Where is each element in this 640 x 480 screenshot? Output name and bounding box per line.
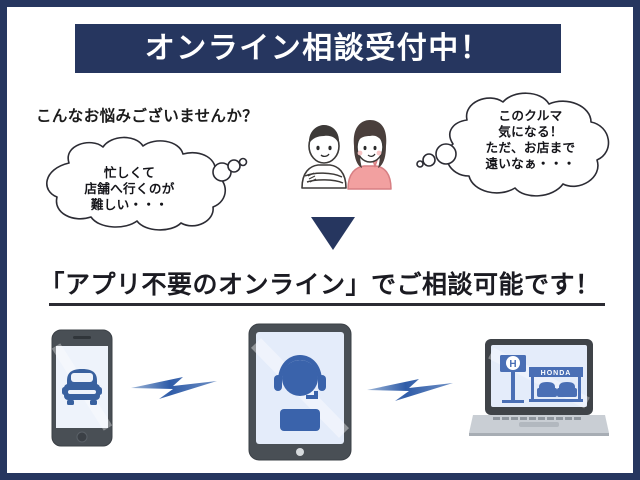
couple-illustration (290, 110, 398, 194)
lightning-bolt-icon (365, 371, 455, 407)
banner-title: オンライン相談受付中！ (145, 34, 492, 64)
honda-logo-text: H (509, 359, 516, 370)
thought-cloud-right: このクルマ気になる！ただ、お店まで遠いなぁ・・・ (419, 92, 624, 210)
lead-question: こんなお悩みございませんか？ (36, 104, 258, 126)
lightning-bolt-icon (129, 369, 219, 405)
headline-underline (49, 303, 605, 306)
tablet-headset-agent-icon (248, 323, 352, 461)
smartphone-car-icon (51, 329, 113, 447)
title-banner: オンライン相談受付中！ (75, 24, 561, 73)
headline: 「アプリ不要のオンライン」でご相談可能です！ (7, 265, 633, 301)
promo-poster: オンライン相談受付中！ こんなお悩みございませんか？ 忙しくて店舗へ行くのが難し… (0, 0, 640, 480)
thought-cloud-right-text: このクルマ気になる！ただ、お店まで遠いなぁ・・・ (451, 108, 610, 172)
thought-cloud-left-text: 忙しくて店舗へ行くのが難しい・・・ (53, 165, 206, 213)
woman-figure (348, 120, 391, 189)
triangle-down-icon (311, 217, 355, 250)
thought-cloud-left: 忙しくて店舗へ行くのが難しい・・・ (33, 135, 248, 230)
laptop-dealership-icon: H HONDA (469, 337, 609, 447)
man-figure (302, 125, 346, 188)
dealership-sign-text: HONDA (541, 370, 572, 377)
headline-text: 「アプリ不要のオンライン」でご相談可能です！ (39, 265, 600, 301)
